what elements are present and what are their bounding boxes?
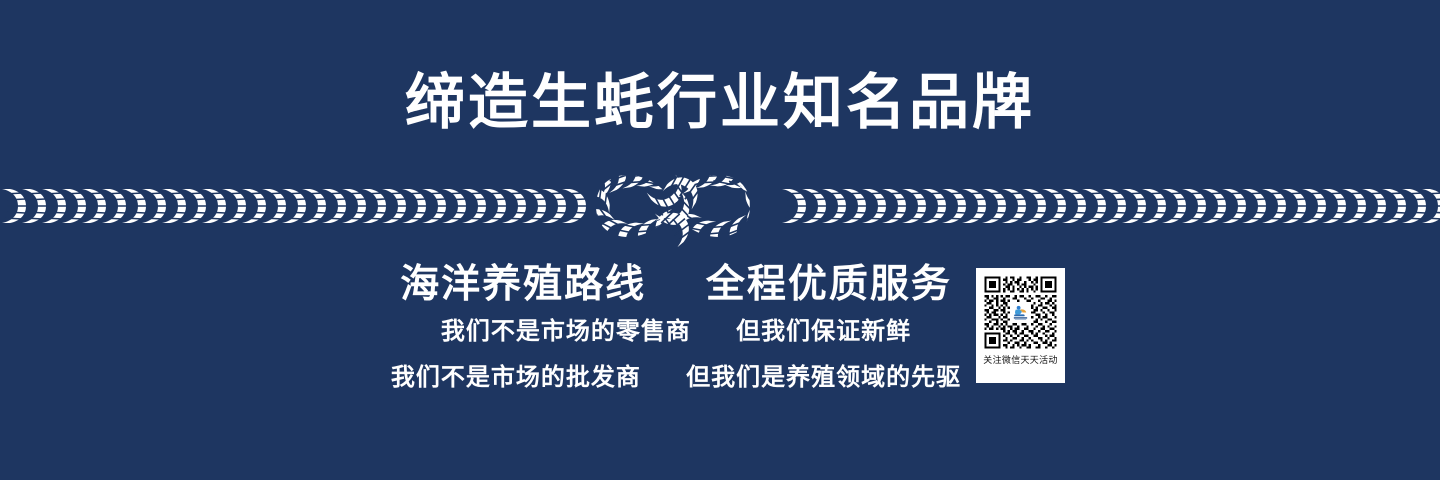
tagline-block: 我们不是市场的零售商 但我们保证新鲜 我们不是市场的批发商 但我们是养殖领域的先… bbox=[0, 320, 1352, 390]
subhead-right: 全程优质服务 bbox=[706, 263, 952, 306]
qr-center-logo-icon bbox=[1011, 303, 1030, 322]
qr-caption: 关注微信天天活动 bbox=[983, 356, 1057, 365]
sub-headline: 海洋养殖路线 全程优质服务 bbox=[0, 262, 1352, 309]
tagline-row-2: 我们不是市场的批发商 但我们是养殖领域的先驱 bbox=[0, 366, 1352, 390]
promo-banner: 缔造生蚝行业知名品牌 bbox=[0, 0, 1440, 480]
tagline-row-1: 我们不是市场的零售商 但我们保证新鲜 bbox=[0, 320, 1352, 344]
rope-divider bbox=[0, 158, 1440, 254]
rope-knot-icon bbox=[578, 158, 768, 254]
subhead-left: 海洋养殖路线 bbox=[400, 263, 646, 306]
tagline-2-right: 但我们是养殖领域的先驱 bbox=[686, 364, 961, 391]
tagline-1-left: 我们不是市场的零售商 bbox=[441, 318, 691, 345]
qr-card[interactable]: 关注微信天天活动 bbox=[976, 268, 1065, 383]
tagline-1-right: 但我们保证新鲜 bbox=[736, 318, 911, 345]
tagline-2-left: 我们不是市场的批发商 bbox=[391, 364, 641, 391]
page-title: 缔造生蚝行业知名品牌 bbox=[0, 68, 1440, 137]
